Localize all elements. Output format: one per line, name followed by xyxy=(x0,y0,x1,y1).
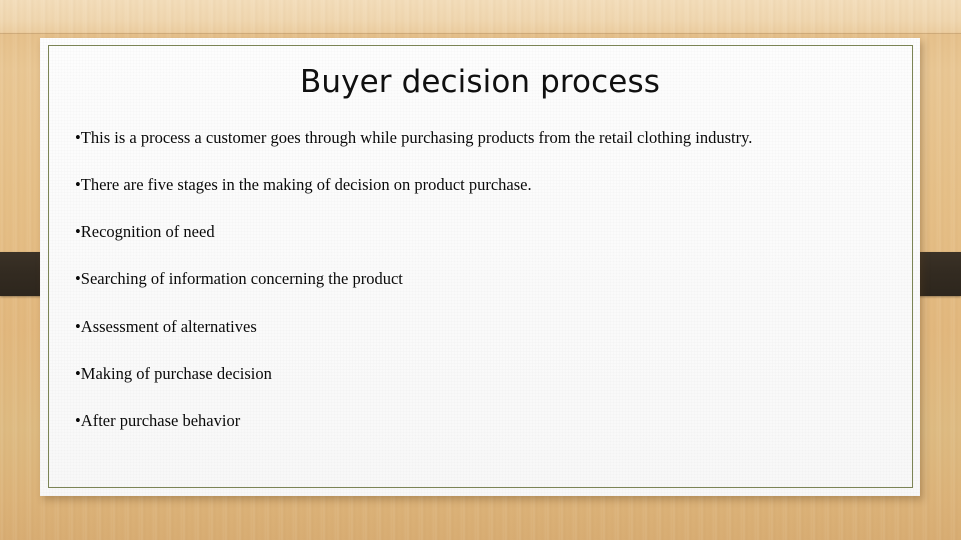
background-seam-line xyxy=(0,33,961,34)
bullet-text: There are five stages in the making of d… xyxy=(81,175,532,194)
bullet-item: •There are five stages in the making of … xyxy=(75,175,895,196)
bullet-item: •Searching of information concerning the… xyxy=(75,269,895,290)
bullet-text: Assessment of alternatives xyxy=(81,317,257,336)
slide-title: Buyer decision process xyxy=(40,65,920,99)
bullet-text: Searching of information concerning the … xyxy=(81,269,403,288)
bullet-item: •This is a process a customer goes throu… xyxy=(75,128,895,149)
bullet-item: •After purchase behavior xyxy=(75,411,895,432)
bullet-item: •Making of purchase decision xyxy=(75,364,895,385)
slide-card: Buyer decision process •This is a proces… xyxy=(40,38,920,496)
bullet-item: •Assessment of alternatives xyxy=(75,317,895,338)
bullet-text: Recognition of need xyxy=(81,222,215,241)
bullet-text: After purchase behavior xyxy=(81,411,240,430)
bullet-item: •Recognition of need xyxy=(75,222,895,243)
card-content: Buyer decision process •This is a proces… xyxy=(40,38,920,496)
bullet-text: Making of purchase decision xyxy=(81,364,272,383)
slide-stage: Buyer decision process •This is a proces… xyxy=(0,0,961,540)
bullet-list: •This is a process a customer goes throu… xyxy=(75,128,895,458)
bullet-text: This is a process a customer goes throug… xyxy=(81,128,753,147)
